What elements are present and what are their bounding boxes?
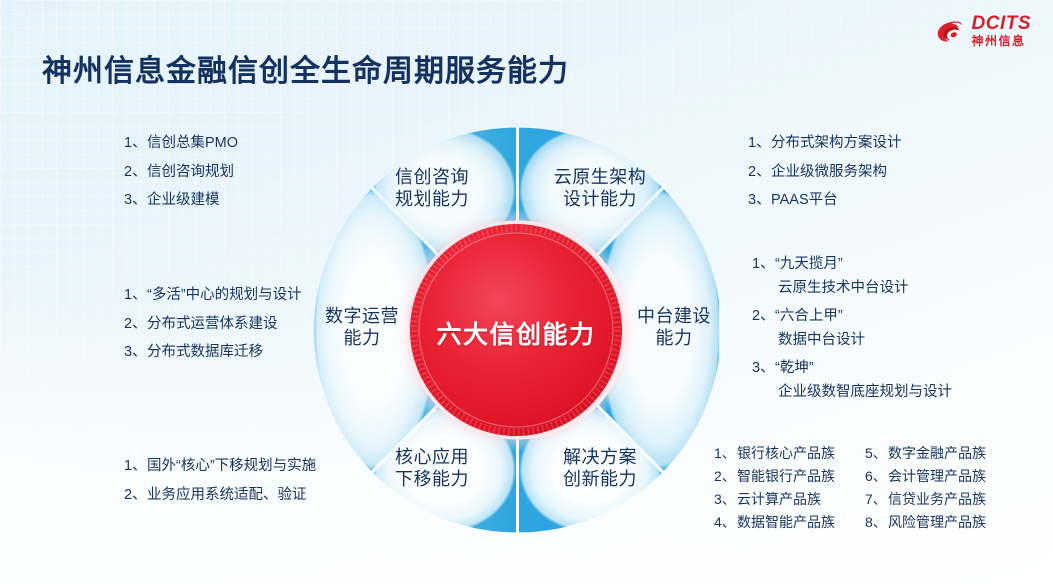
list-index: 3、: [714, 492, 737, 506]
notes-bottom-right-col2: 5、 数字金融产品族 6、 会计管理产品族 7、 信贷业务产品族 8、 风险管理…: [865, 446, 986, 538]
list-index: 2、: [124, 317, 147, 332]
list-item: 1、 “九天揽月”: [752, 257, 952, 272]
list-text: 分布式数据库迁移: [147, 345, 263, 360]
list-index: 1、: [748, 136, 771, 151]
list-index: 2、: [124, 165, 147, 180]
list-text: “九天揽月”: [775, 257, 843, 272]
list-item-continuation: 云原生技术中台设计: [752, 281, 952, 296]
list-text: 云计算产品族: [737, 492, 821, 506]
list-index: 8、: [865, 515, 888, 529]
list-text: 数字金融产品族: [888, 446, 986, 460]
segment-label-solution: 解决方案 创新能力: [540, 446, 660, 491]
segment-label-solution-line1: 解决方案: [540, 446, 660, 468]
list-text: 数据智能产品族: [737, 515, 835, 529]
notes-top-left: 1、 信创总集PMO 2、 信创咨询规划 3、 企业级建模: [124, 136, 238, 222]
segment-label-cloud: 云原生架构 设计能力: [540, 166, 660, 211]
segment-label-consult-line2: 规划能力: [372, 188, 492, 210]
list-item: 3、 “乾坤”: [752, 361, 952, 376]
list-item: 3、 企业级建模: [124, 193, 238, 208]
segment-label-consult-line1: 信创咨询: [372, 166, 492, 188]
segment-label-cloud-line2: 设计能力: [540, 188, 660, 210]
list-item-continuation: 企业级数智底座规划与设计: [752, 385, 952, 400]
list-item: 7、 信贷业务产品族: [865, 492, 986, 506]
list-index: 2、: [124, 488, 147, 503]
list-text: 风险管理产品族: [888, 515, 986, 529]
list-text: 业务应用系统适配、验证: [147, 488, 307, 503]
list-item: 4、 数据智能产品族: [714, 515, 835, 529]
list-index: 2、: [752, 309, 775, 324]
list-item: 1、 银行核心产品族: [714, 446, 835, 460]
segment-label-digital-line1: 数字运营: [310, 305, 414, 327]
brand-logo: DCITS 神州信息: [935, 14, 1032, 47]
list-text: 分布式架构方案设计: [771, 136, 902, 151]
list-index: 5、: [865, 446, 888, 460]
list-index: 6、: [865, 469, 888, 483]
center-label: 六大信创能力: [422, 315, 610, 351]
list-text: 数据中台设计: [778, 333, 865, 348]
page-title: 神州信息金融信创全生命周期服务能力: [42, 46, 569, 90]
notes-bottom-right: 1、 银行核心产品族 2、 智能银行产品族 3、 云计算产品族 4、 数据智能产…: [714, 446, 986, 538]
list-text: PAAS平台: [771, 193, 838, 208]
list-index: 2、: [748, 165, 771, 180]
list-text: 分布式运营体系建设: [147, 317, 278, 332]
list-item: 2、 业务应用系统适配、验证: [124, 488, 316, 503]
list-index: 1、: [124, 459, 147, 474]
segment-label-core-line1: 核心应用: [372, 446, 492, 468]
list-text: 企业级建模: [147, 193, 220, 208]
list-text: 银行核心产品族: [737, 446, 835, 460]
segment-label-midend: 中台建设 能力: [622, 305, 726, 350]
list-text: 企业级数智底座规划与设计: [778, 385, 952, 400]
list-item: 2、 分布式运营体系建设: [124, 317, 302, 332]
list-text: 企业级微服务架构: [771, 165, 887, 180]
list-item: 1、 分布式架构方案设计: [748, 136, 902, 151]
segment-label-core: 核心应用 下移能力: [372, 446, 492, 491]
list-item: 2、 企业级微服务架构: [748, 165, 902, 180]
logo-wordmark-en: DCITS: [972, 14, 1032, 33]
list-item: 2、 智能银行产品族: [714, 469, 835, 483]
notes-bottom-right-col1: 1、 银行核心产品族 2、 智能银行产品族 3、 云计算产品族 4、 数据智能产…: [714, 446, 835, 538]
list-text: 信创总集PMO: [147, 136, 238, 151]
list-text: “乾坤”: [775, 361, 814, 376]
segment-label-cloud-line1: 云原生架构: [540, 166, 660, 188]
segment-label-core-line2: 下移能力: [372, 468, 492, 490]
list-item: 1、 国外“核心”下移规划与实施: [124, 459, 316, 474]
list-text: “六合上甲”: [775, 309, 843, 324]
list-text: 信贷业务产品族: [888, 492, 986, 506]
list-item: 3、 PAAS平台: [748, 193, 902, 208]
list-item: 3、 分布式数据库迁移: [124, 345, 302, 360]
list-index: 7、: [865, 492, 888, 506]
segment-label-solution-line2: 创新能力: [540, 468, 660, 490]
slide-canvas: 神州信息金融信创全生命周期服务能力 DCITS 神州信息: [0, 0, 1053, 584]
logo-wordmark-cn: 神州信息: [972, 35, 1032, 47]
list-text: “多活”中心的规划与设计: [147, 288, 302, 303]
list-index: 3、: [748, 193, 771, 208]
notes-mid-right: 1、 “九天揽月” 云原生技术中台设计 2、 “六合上甲” 数据中台设计 3、 …: [752, 257, 952, 413]
list-text: 会计管理产品族: [888, 469, 986, 483]
segment-label-consult: 信创咨询 规划能力: [372, 166, 492, 211]
list-item-continuation: 数据中台设计: [752, 333, 952, 348]
list-item: 2、 信创咨询规划: [124, 165, 238, 180]
list-text: 信创咨询规划: [147, 165, 234, 180]
dcits-swirl-icon: [935, 16, 965, 46]
list-item: 2、 “六合上甲”: [752, 309, 952, 324]
list-item: 1、 “多活”中心的规划与设计: [124, 288, 302, 303]
list-index: 1、: [124, 136, 147, 151]
notes-top-right: 1、 分布式架构方案设计 2、 企业级微服务架构 3、 PAAS平台: [748, 136, 902, 222]
list-index: 2、: [714, 469, 737, 483]
list-text: 云原生技术中台设计: [778, 281, 909, 296]
list-item: 3、 云计算产品族: [714, 492, 835, 506]
list-index: 3、: [752, 361, 775, 376]
segment-label-midend-line1: 中台建设: [622, 305, 726, 327]
list-item: 1、 信创总集PMO: [124, 136, 238, 151]
notes-mid-left: 1、 “多活”中心的规划与设计 2、 分布式运营体系建设 3、 分布式数据库迁移: [124, 288, 302, 374]
list-text: 国外“核心”下移规划与实施: [147, 459, 316, 474]
list-item: 8、 风险管理产品族: [865, 515, 986, 529]
list-index: 4、: [714, 515, 737, 529]
segment-label-digital-line2: 能力: [310, 327, 414, 349]
list-index: 1、: [752, 257, 775, 272]
list-text: 智能银行产品族: [737, 469, 835, 483]
list-index: 3、: [124, 345, 147, 360]
segment-label-digital: 数字运营 能力: [310, 305, 414, 350]
segment-label-midend-line2: 能力: [622, 327, 726, 349]
list-item: 6、 会计管理产品族: [865, 469, 986, 483]
list-item: 5、 数字金融产品族: [865, 446, 986, 460]
list-index: 1、: [124, 288, 147, 303]
notes-bottom-left: 1、 国外“核心”下移规划与实施 2、 业务应用系统适配、验证: [124, 459, 316, 516]
list-index: 1、: [714, 446, 737, 460]
list-index: 3、: [124, 193, 147, 208]
logo-wordmark: DCITS 神州信息: [972, 14, 1032, 47]
